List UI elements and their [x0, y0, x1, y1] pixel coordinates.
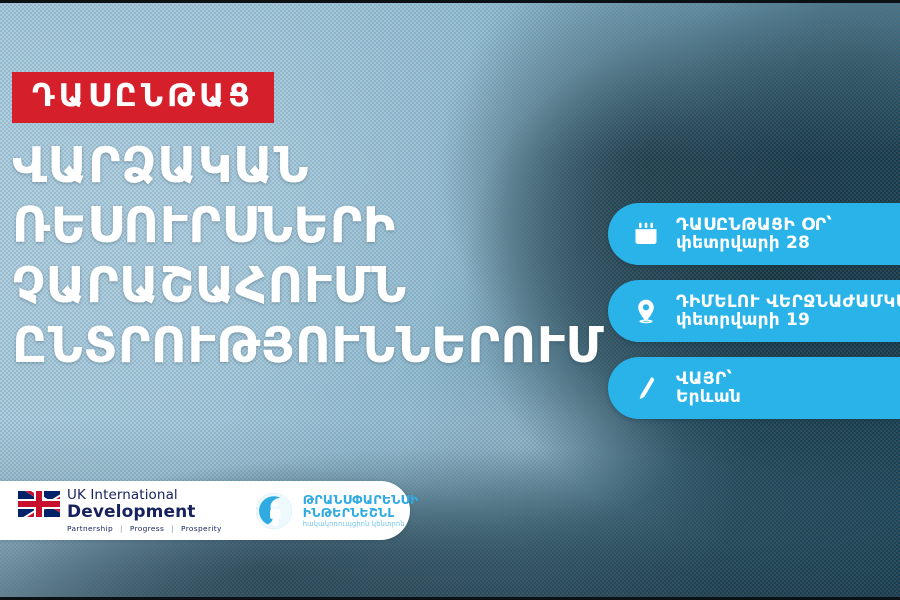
transparency-international-text: ԹՐԱՆՍՓԱՐԵՆՍԻ ԻՆԹԵՐՆԵՇՆԼ հակակոռուպցիոն կ…: [303, 493, 419, 529]
uk-tagline-partnership: Partnership: [67, 524, 113, 533]
info-card-list: ԴԱՍԸՆԹԱՑԻ ՕՐ՝ փետրվարի 28 ԴԻՄԵԼՈՒ ՎԵՐՋՆԱ…: [608, 203, 900, 434]
transparency-international-mark-icon: [254, 491, 294, 531]
uk-logo-line-1: UK International: [67, 489, 222, 503]
ti-logo-line-2: ԻՆԹԵՐՆԵՇՆԼ: [303, 506, 419, 519]
uk-international-development-logo: UK International Development Partnership…: [18, 489, 222, 532]
location-pin-icon: [626, 291, 666, 331]
ti-logo-subtitle: հակակոռուպցիոն կենտրոն: [303, 521, 419, 528]
info-card-location-text: ՎԱՅՐ՝ Երևան: [666, 370, 741, 407]
logo-strip: UK International Development Partnership…: [0, 481, 410, 540]
info-card-deadline-value: փետրվարի 19: [676, 311, 900, 329]
pen-icon: [626, 368, 666, 408]
headline-line-3: ՉԱՐԱՇԱՀՈՒՄՆ: [12, 256, 604, 316]
uk-tagline-progress: Progress: [130, 524, 164, 533]
category-badge: ԴԱՍԸՆԹԱՑ: [12, 72, 274, 123]
info-card-location-value: Երևան: [676, 388, 741, 406]
headline-line-4: ԸՆՏՐՈՒԹՅՈՒՆՆԵՐՈՒՄ: [12, 316, 604, 376]
ti-logo-line-1: ԹՐԱՆՍՓԱՐԵՆՍԻ: [303, 493, 419, 506]
info-card-date-value: փետրվարի 28: [676, 234, 832, 252]
uk-flag-icon: [18, 491, 60, 517]
page-title: ՎԱՐՁԱԿԱՆ ՌԵՍՈՒՐՍՆԵՐԻ ՉԱՐԱՇԱՀՈՒՄՆ ԸՆՏՐՈՒԹ…: [12, 136, 604, 376]
headline-line-1: ՎԱՐՁԱԿԱՆ: [12, 136, 604, 196]
calendar-icon: [626, 214, 666, 254]
info-card-location-label: ՎԱՅՐ՝: [676, 369, 732, 389]
info-card-date-label: ԴԱՍԸՆԹԱՑԻ ՕՐ՝: [676, 215, 832, 235]
banner-canvas: ԴԱՍԸՆԹԱՑ ՎԱՐՁԱԿԱՆ ՌԵՍՈՒՐՍՆԵՐԻ ՉԱՐԱՇԱՀՈՒՄ…: [0, 0, 900, 600]
info-card-location[interactable]: ՎԱՅՐ՝ Երևան: [608, 357, 900, 419]
info-card-date-text: ԴԱՍԸՆԹԱՑԻ ՕՐ՝ փետրվարի 28: [666, 216, 832, 253]
transparency-international-logo: ԹՐԱՆՍՓԱՐԵՆՍԻ ԻՆԹԵՐՆԵՇՆԼ հակակոռուպցիոն կ…: [254, 491, 419, 531]
uk-logo-tagline: Partnership|Progress|Prosperity: [67, 525, 222, 532]
info-card-date[interactable]: ԴԱՍԸՆԹԱՑԻ ՕՐ՝ փետրվարի 28: [608, 203, 900, 265]
uk-tagline-prosperity: Prosperity: [181, 524, 222, 533]
info-card-deadline-text: ԴԻՄԵԼՈՒ ՎԵՐՋՆԱԺԱՄԿԵՏ՝ փետրվարի 19: [666, 293, 900, 330]
info-card-deadline[interactable]: ԴԻՄԵԼՈՒ ՎԵՐՋՆԱԺԱՄԿԵՏ՝ փետրվարի 19: [608, 280, 900, 342]
info-card-deadline-label: ԴԻՄԵԼՈՒ ՎԵՐՋՆԱԺԱՄԿԵՏ՝: [676, 292, 900, 312]
top-edge-bar: [0, 0, 900, 3]
uk-logo-line-2: Development: [67, 504, 222, 521]
headline-line-2: ՌԵՍՈՒՐՍՆԵՐԻ: [12, 196, 604, 256]
uk-logo-text: UK International Development Partnership…: [67, 489, 222, 532]
